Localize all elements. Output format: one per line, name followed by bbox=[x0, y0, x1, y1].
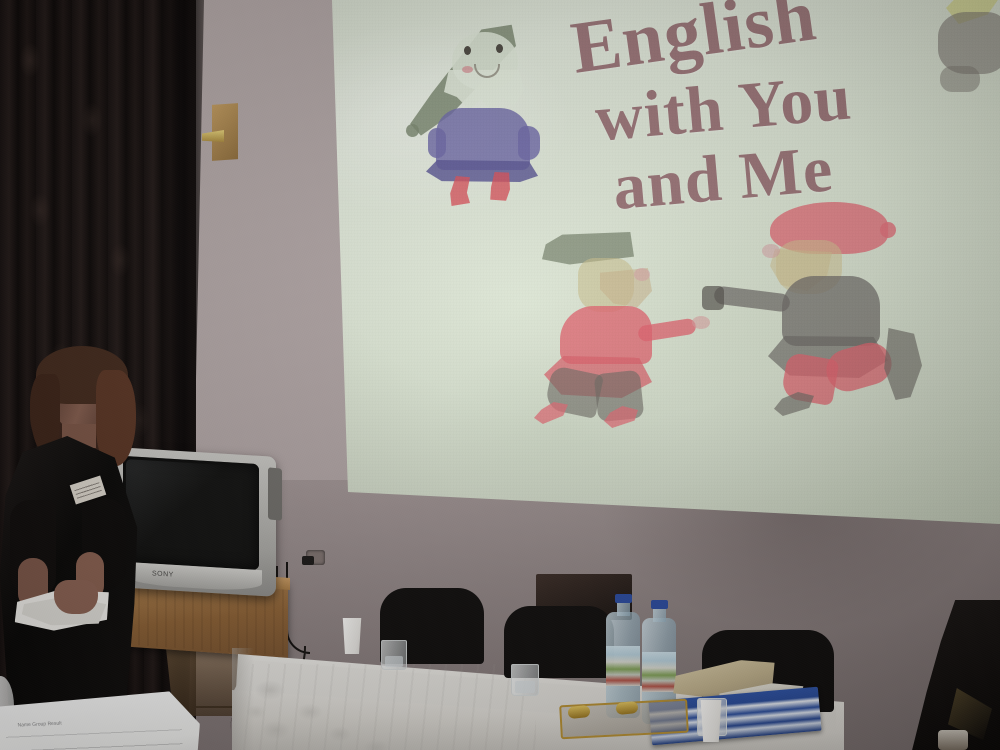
bottle-label bbox=[606, 646, 640, 686]
bottle-cap bbox=[615, 594, 632, 603]
bottle-cap bbox=[651, 600, 668, 609]
drinking-glass[interactable] bbox=[381, 640, 407, 670]
silhouette-object bbox=[938, 730, 968, 750]
woman-presenter bbox=[0, 340, 200, 750]
presenter-hands bbox=[54, 580, 98, 614]
drinking-glass[interactable] bbox=[511, 664, 539, 696]
conference-room-photo: English with You and Me bbox=[0, 0, 1000, 750]
tablecloth-folds bbox=[236, 664, 536, 750]
bottle-label bbox=[642, 652, 676, 692]
tv-side-connector-panel bbox=[268, 467, 282, 520]
table-left-edge bbox=[232, 648, 254, 750]
foreground-document-text: Name Group Result bbox=[17, 715, 178, 750]
presenter-hair-right bbox=[96, 370, 136, 466]
